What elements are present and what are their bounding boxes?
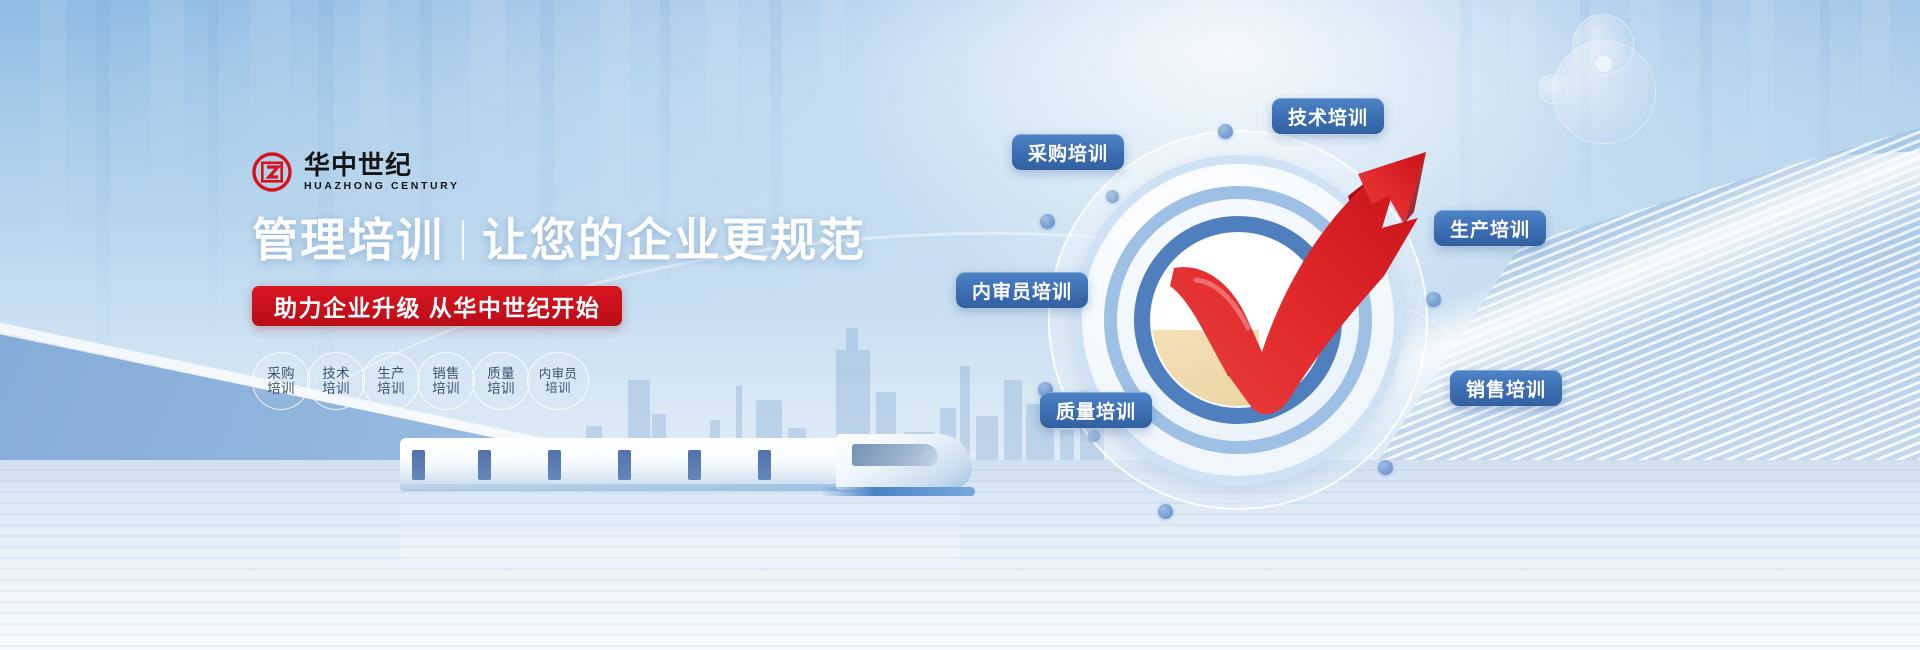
label-quality[interactable]: 质量培训	[1040, 392, 1152, 428]
logo-wordmark: 华中世纪 HUAZHONG CENTURY	[304, 152, 460, 192]
bokeh-circle-dot	[1596, 56, 1612, 72]
course-circle-purchasing[interactable]: 采购 培训	[252, 352, 310, 410]
connector-dot-purchasing	[1040, 214, 1055, 229]
label-sales[interactable]: 销售培训	[1450, 370, 1562, 406]
target-graphic	[1048, 130, 1428, 510]
banner-root: 华中世纪 HUAZHONG CENTURY 管理培训 让您的企业更规范 助力企业…	[0, 0, 1920, 650]
logo-emblem-icon	[252, 152, 292, 192]
label-internal-auditor[interactable]: 内审员培训	[956, 272, 1088, 308]
page-title: 管理培训 让您的企业更规范	[252, 216, 892, 264]
label-tech[interactable]: 技术培训	[1272, 98, 1384, 134]
course-circle-line1: 质量	[487, 366, 515, 381]
course-circle-line1: 技术	[322, 366, 350, 381]
train-door	[412, 450, 425, 480]
bokeh-circle-small	[1538, 74, 1568, 104]
high-speed-train	[400, 410, 960, 500]
logo-name-en: HUAZHONG CENTURY	[304, 181, 460, 192]
train-body	[400, 438, 870, 490]
train-stripe	[400, 484, 870, 490]
course-circle-line2: 培训	[322, 381, 350, 396]
course-circle-line1: 销售	[432, 366, 460, 381]
course-circle-line2: 培训	[545, 381, 571, 395]
course-circle-line2: 培训	[267, 381, 295, 396]
course-circle-technology[interactable]: 技术 培训	[307, 352, 365, 410]
course-circle-line1: 生产	[377, 366, 405, 381]
banner-content: 华中世纪 HUAZHONG CENTURY 管理培训 让您的企业更规范 助力企业…	[252, 150, 892, 410]
label-production[interactable]: 生产培训	[1434, 210, 1546, 246]
course-circle-line1: 内审员	[539, 367, 577, 381]
course-circle-internal-auditor[interactable]: 内审员 培训	[527, 352, 589, 410]
headline-divider	[462, 220, 464, 260]
train-windshield	[852, 444, 938, 466]
course-circle-quality[interactable]: 质量 培训	[472, 352, 530, 410]
headline-left: 管理培训	[252, 216, 444, 264]
course-circle-line2: 培训	[377, 381, 405, 396]
train-door	[758, 450, 771, 480]
brand-logo[interactable]: 华中世纪 HUAZHONG CENTURY	[252, 150, 892, 194]
train-door	[618, 450, 631, 480]
train-reflection	[400, 500, 960, 560]
logo-name-cn: 华中世纪	[304, 152, 460, 178]
course-circle-line1: 采购	[267, 366, 295, 381]
headline-right: 让您的企业更规范	[482, 216, 866, 264]
course-circle-line2: 培训	[487, 381, 515, 396]
slogan-pill[interactable]: 助力企业升级 从华中世纪开始	[252, 286, 622, 326]
train-door	[548, 450, 561, 480]
course-circle-production[interactable]: 生产 培训	[362, 352, 420, 410]
course-circle-list: 采购 培训 技术 培训 生产 培训 销售 培训 质量 培训 内审员 培训	[252, 352, 892, 410]
check-arrow-icon	[1066, 100, 1486, 520]
course-circle-line2: 培训	[432, 381, 460, 396]
course-circle-sales[interactable]: 销售 培训	[417, 352, 475, 410]
train-skirt	[820, 487, 975, 496]
train-door	[688, 450, 701, 480]
train-door	[478, 450, 491, 480]
label-purchasing[interactable]: 采购培训	[1012, 134, 1124, 170]
